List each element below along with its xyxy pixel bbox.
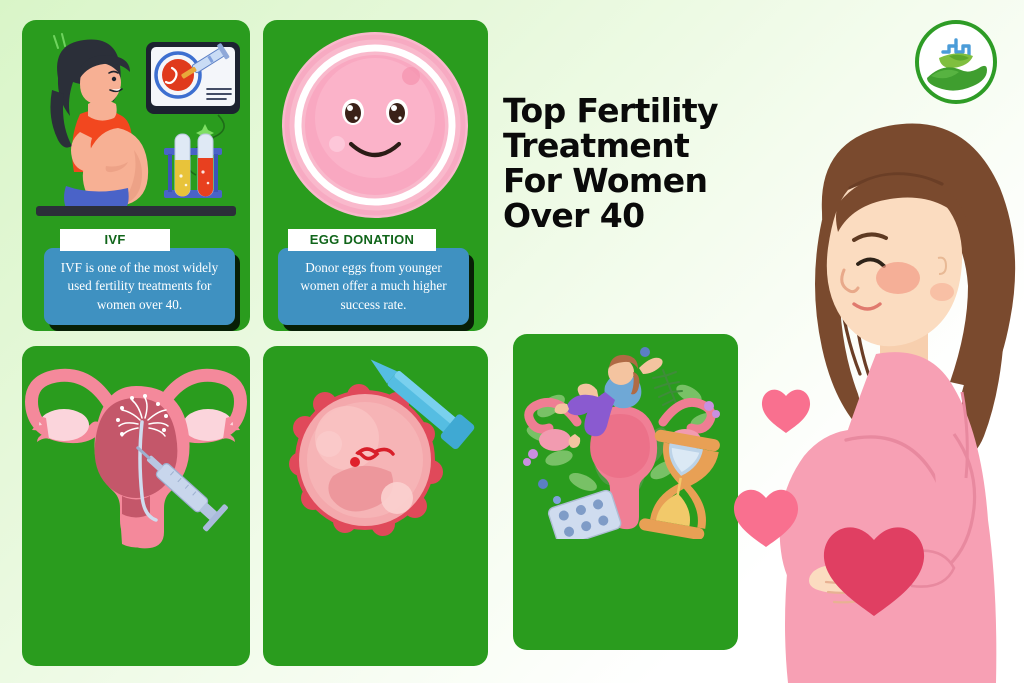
card-hormonal-therapy[interactable]: HORMONAL THERAPY Some women over 40 stil… — [513, 334, 738, 650]
card-egg-donation[interactable]: EGG DONATION Donor eggs from younger wom… — [263, 20, 488, 331]
ivf-illustration — [22, 20, 250, 225]
card-ivf[interactable]: IVF IVF is one of the most widely used f… — [22, 20, 250, 331]
hormonal-therapy-illustration — [513, 334, 738, 539]
iui-illustration — [22, 346, 250, 561]
card-label-ivf: IVF — [60, 229, 170, 251]
egg-donation-illustration — [263, 20, 488, 225]
mini-ivf-illustration — [263, 346, 488, 546]
label-text: EGG DONATION — [310, 232, 414, 247]
heart-float-small — [762, 390, 810, 433]
card-body-text: Donor eggs from younger women offer a mu… — [287, 259, 460, 314]
card-label-egg-donation: EGG DONATION — [288, 229, 436, 251]
label-text: IVF — [104, 232, 125, 247]
card-mini-ivf[interactable]: MINI-IVF Unlike traditional IVF, Natural… — [263, 346, 488, 666]
card-iui[interactable]: IUI IUI involves placing sperm directly … — [22, 346, 250, 666]
card-body-text: IVF is one of the most widely used ferti… — [53, 259, 226, 314]
card-info-ivf: IVF is one of the most widely used ferti… — [44, 248, 235, 325]
card-info-egg-donation: Donor eggs from younger women offer a mu… — [278, 248, 469, 325]
pregnant-woman-illustration — [726, 92, 1024, 683]
